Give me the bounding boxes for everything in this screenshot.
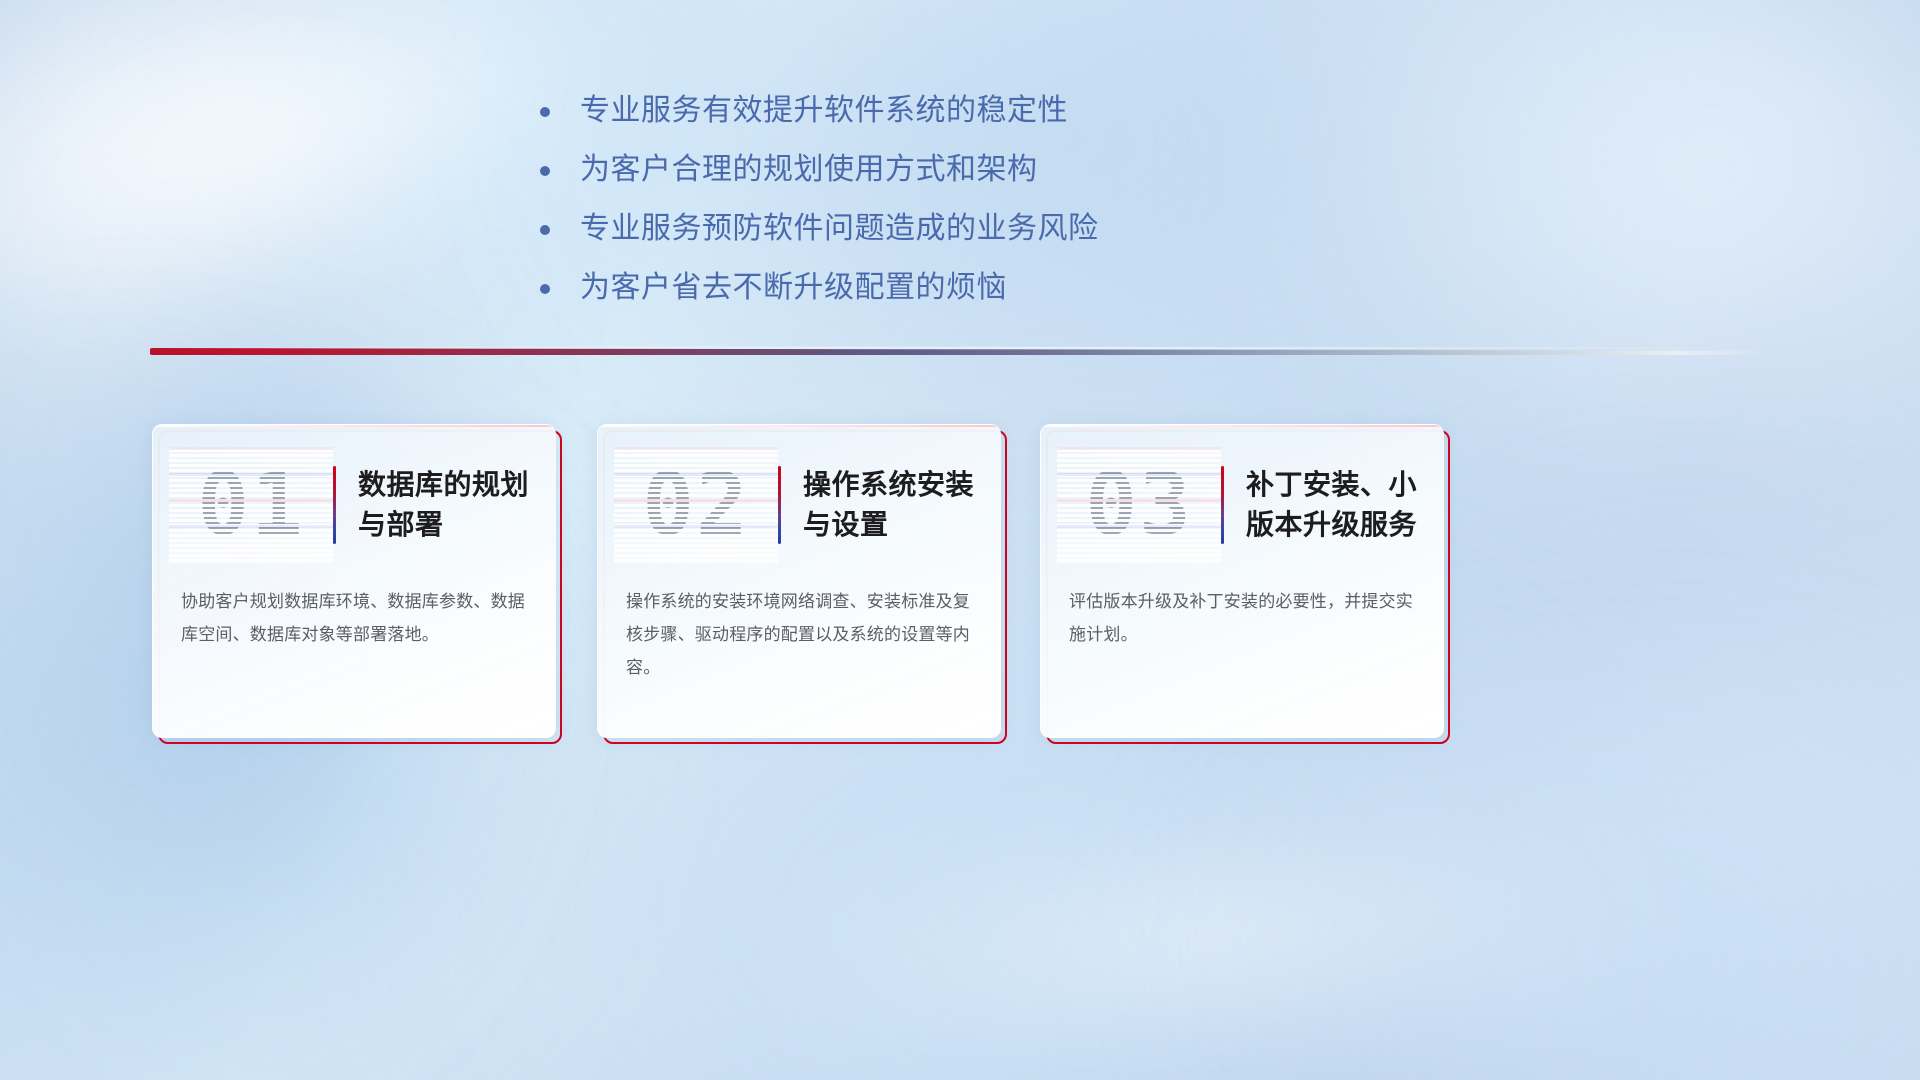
slide-content: 专业服务有效提升软件系统的稳定性 为客户合理的规划使用方式和架构 专业服务预防软… — [0, 0, 1920, 1080]
card-header: 02 操作系统安装 与设置 — [598, 445, 1001, 565]
list-item: 专业服务有效提升软件系统的稳定性 — [540, 92, 1260, 130]
card-header: 01 数据库的规划 与部署 — [153, 445, 556, 565]
list-item: 专业服务预防软件问题造成的业务风险 — [540, 210, 1260, 248]
card-number-badge: 03 — [1063, 453, 1215, 557]
card-number-text: 02 — [642, 453, 750, 557]
list-item: 为客户省去不断升级配置的烦恼 — [540, 269, 1260, 307]
card-description: 评估版本升级及补丁安装的必要性，并提交实施计划。 — [1069, 585, 1420, 651]
card-title: 操作系统安装 与设置 — [803, 465, 984, 545]
card-title-line-1: 操作系统安装 — [803, 465, 974, 505]
bullet-dot-icon — [540, 166, 550, 176]
card-description: 操作系统的安装环境网络调查、安装标准及复核步骤、驱动程序的配置以及系统的设置等内… — [626, 585, 977, 684]
card-title-divider-icon — [778, 466, 781, 544]
card-title-line-2: 版本升级服务 — [1246, 505, 1417, 545]
benefits-bullet-list: 专业服务有效提升软件系统的稳定性 为客户合理的规划使用方式和架构 专业服务预防软… — [540, 92, 1260, 328]
bullet-text: 为客户合理的规划使用方式和架构 — [580, 151, 1038, 189]
bullet-dot-icon — [540, 225, 550, 235]
card-title: 补丁安装、小 版本升级服务 — [1246, 465, 1427, 545]
card-number-text: 01 — [197, 453, 305, 557]
card-title-line-2: 与部署 — [358, 505, 529, 545]
card-header: 03 补丁安装、小 版本升级服务 — [1041, 445, 1444, 565]
bullet-dot-icon — [540, 284, 550, 294]
card-description: 协助客户规划数据库环境、数据库参数、数据库空间、数据库对象等部署落地。 — [181, 585, 532, 651]
card-number-badge: 02 — [620, 453, 772, 557]
service-card-03[interactable]: 03 补丁安装、小 版本升级服务 评估版本升级及补丁安装的必要性，并提交实施计划… — [1040, 424, 1444, 738]
bullet-dot-icon — [540, 107, 550, 117]
card-surface: 03 补丁安装、小 版本升级服务 评估版本升级及补丁安装的必要性，并提交实施计划… — [1040, 424, 1444, 738]
card-title-divider-icon — [333, 466, 336, 544]
bullet-text: 专业服务预防软件问题造成的业务风险 — [580, 210, 1099, 248]
card-title-divider-icon — [1221, 466, 1224, 544]
card-number-badge: 01 — [175, 453, 327, 557]
section-divider — [150, 344, 1770, 366]
card-title-line-1: 数据库的规划 — [358, 465, 529, 505]
divider-highlight — [150, 346, 1770, 349]
list-item: 为客户合理的规划使用方式和架构 — [540, 151, 1260, 189]
bullet-text: 为客户省去不断升级配置的烦恼 — [580, 269, 1007, 307]
service-card-group: 01 数据库的规划 与部署 协助客户规划数据库环境、数据库参数、数据库空间、数据… — [0, 424, 1920, 754]
service-card-02[interactable]: 02 操作系统安装 与设置 操作系统的安装环境网络调查、安装标准及复核步骤、驱动… — [597, 424, 1001, 738]
bullet-text: 专业服务有效提升软件系统的稳定性 — [580, 92, 1068, 130]
card-number-text: 03 — [1085, 453, 1193, 557]
card-title-line-1: 补丁安装、小 — [1246, 465, 1417, 505]
card-surface: 01 数据库的规划 与部署 协助客户规划数据库环境、数据库参数、数据库空间、数据… — [152, 424, 556, 738]
card-surface: 02 操作系统安装 与设置 操作系统的安装环境网络调查、安装标准及复核步骤、驱动… — [597, 424, 1001, 738]
service-card-01[interactable]: 01 数据库的规划 与部署 协助客户规划数据库环境、数据库参数、数据库空间、数据… — [152, 424, 556, 738]
card-title-line-2: 与设置 — [803, 505, 974, 545]
card-title: 数据库的规划 与部署 — [358, 465, 539, 545]
divider-bar — [150, 348, 1770, 355]
